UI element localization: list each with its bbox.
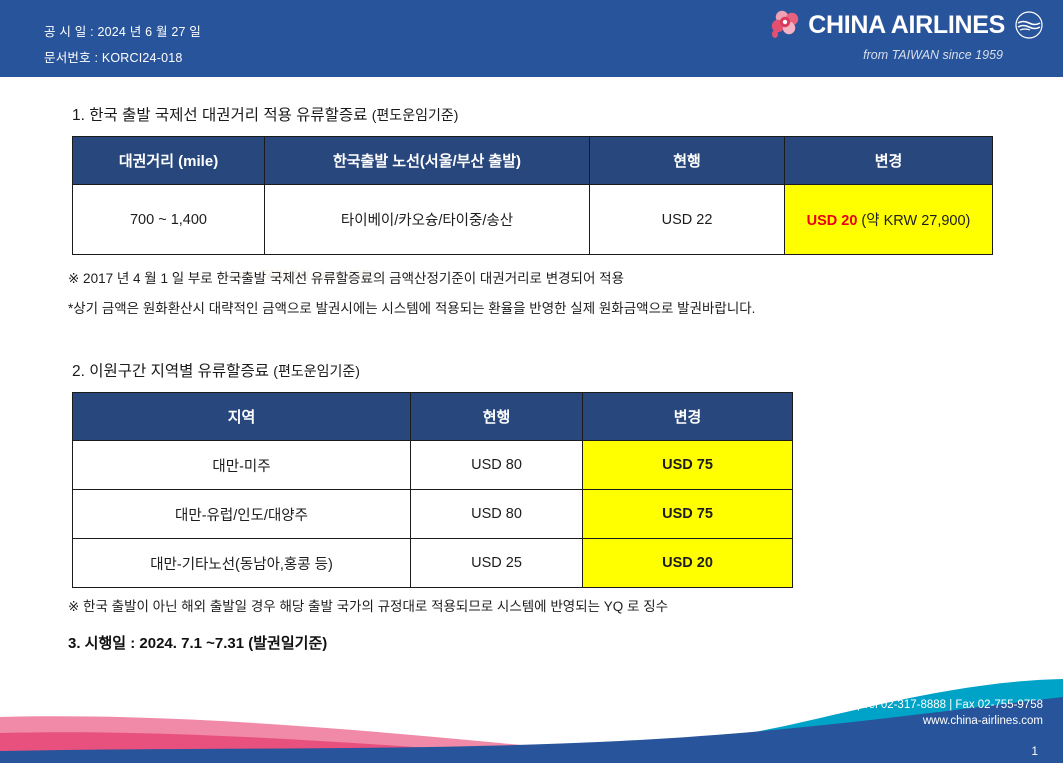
table2-cell-new: USD 75 bbox=[583, 490, 793, 539]
china-airlines-logo: CHINA AIRLINES from TAIWAN since 1959 bbox=[725, 8, 1045, 62]
table2-cell-current: USD 80 bbox=[411, 490, 583, 539]
table2-cell-new: USD 20 bbox=[583, 539, 793, 588]
table2-cell-region: 대만-유럽/인도/대양주 bbox=[73, 490, 411, 539]
table-row: 대만-기타노선(동남아,홍콩 등) USD 25 USD 20 bbox=[73, 539, 793, 588]
table1-cell-new: USD 20 (약 KRW 27,900) bbox=[785, 185, 993, 255]
table1-header-current: 현행 bbox=[590, 137, 785, 185]
section-1-title: 1. 한국 출발 국제선 대권거리 적용 유류할증료 (편도운임기준) bbox=[72, 103, 458, 125]
table-row: 700 ~ 1,400 타이베이/카오슝/타이중/송산 USD 22 USD 2… bbox=[73, 185, 993, 255]
skyteam-icon bbox=[1013, 10, 1045, 40]
effective-date-line: 3. 시행일 : 2024. 7.1 ~7.31 (발권일기준) bbox=[68, 632, 327, 653]
table1-header-distance: 대권거리 (mile) bbox=[73, 137, 265, 185]
footer-website-link[interactable]: www.china-airlines.com bbox=[923, 715, 1043, 727]
table1-new-amount: USD 20 bbox=[807, 213, 858, 229]
section-1-title-main: 1. 한국 출발 국제선 대권거리 적용 유류할증료 bbox=[72, 107, 367, 124]
section-1-title-sub: (편도운임기준) bbox=[372, 107, 459, 123]
brand-tagline-text: from TAIWAN since 1959 bbox=[725, 48, 1003, 62]
note-1-line-1: ※ 2017 년 4 월 1 일 부로 한국출발 국제선 유류할증료의 금액산정… bbox=[68, 267, 624, 287]
table1-cell-routes: 타이베이/카오슝/타이중/송산 bbox=[265, 185, 590, 255]
note-1-line-2: *상기 금액은 원화환산시 대략적인 금액으로 발권시에는 시스템에 적용되는 … bbox=[68, 297, 755, 317]
table1-new-note: (약 KRW 27,900) bbox=[857, 213, 970, 229]
table2-header-new: 변경 bbox=[583, 393, 793, 441]
table1-cell-distance: 700 ~ 1,400 bbox=[73, 185, 265, 255]
note-2-line-1: ※ 한국 출발이 아닌 해외 출발일 경우 해당 출발 국가의 규정대로 적용되… bbox=[68, 595, 668, 615]
section-2-title: 2. 이원구간 지역별 유류할증료 (편도운임기준) bbox=[72, 359, 360, 381]
page-header: 공 시 일 : 2024 년 6 월 27 일 문서번호 : KORCI24-0… bbox=[0, 0, 1063, 77]
table2-cell-current: USD 80 bbox=[411, 441, 583, 490]
table1-header-routes: 한국출발 노선(서울/부산 출발) bbox=[265, 137, 590, 185]
table-header-row: 대권거리 (mile) 한국출발 노선(서울/부산 출발) 현행 변경 bbox=[73, 137, 993, 185]
table2-cell-new: USD 75 bbox=[583, 441, 793, 490]
fuel-surcharge-table-distance: 대권거리 (mile) 한국출발 노선(서울/부산 출발) 현행 변경 700 … bbox=[72, 136, 993, 255]
table-header-row: 지역 현행 변경 bbox=[73, 393, 793, 441]
fuel-surcharge-table-region: 지역 현행 변경 대만-미주 USD 80 USD 75 대만-유럽/인도/대양… bbox=[72, 392, 793, 588]
table1-header-new: 변경 bbox=[785, 137, 993, 185]
footer-contact-text: Seoul Branch | Tel 02-317-8888 | Fax 02-… bbox=[785, 699, 1043, 711]
table1-cell-current: USD 22 bbox=[590, 185, 785, 255]
section-2-title-sub: (편도운임기준) bbox=[273, 363, 360, 379]
document-page: 공 시 일 : 2024 년 6 월 27 일 문서번호 : KORCI24-0… bbox=[0, 0, 1063, 763]
table2-header-region: 지역 bbox=[73, 393, 411, 441]
section-2-title-main: 2. 이원구간 지역별 유류할증료 bbox=[72, 363, 269, 380]
table2-cell-current: USD 25 bbox=[411, 539, 583, 588]
table-row: 대만-유럽/인도/대양주 USD 80 USD 75 bbox=[73, 490, 793, 539]
document-number-text: 문서번호 : KORCI24-018 bbox=[44, 47, 183, 66]
table2-header-current: 현행 bbox=[411, 393, 583, 441]
table2-cell-region: 대만-기타노선(동남아,홍콩 등) bbox=[73, 539, 411, 588]
issue-date-text: 공 시 일 : 2024 년 6 월 27 일 bbox=[44, 21, 201, 40]
table-row: 대만-미주 USD 80 USD 75 bbox=[73, 441, 793, 490]
page-footer: Seoul Branch | Tel 02-317-8888 | Fax 02-… bbox=[0, 655, 1063, 763]
brand-name-text: CHINA AIRLINES bbox=[808, 13, 1005, 38]
plum-blossom-icon bbox=[770, 10, 804, 40]
table2-cell-region: 대만-미주 bbox=[73, 441, 411, 490]
footer-page-number: 1 bbox=[1031, 744, 1038, 758]
